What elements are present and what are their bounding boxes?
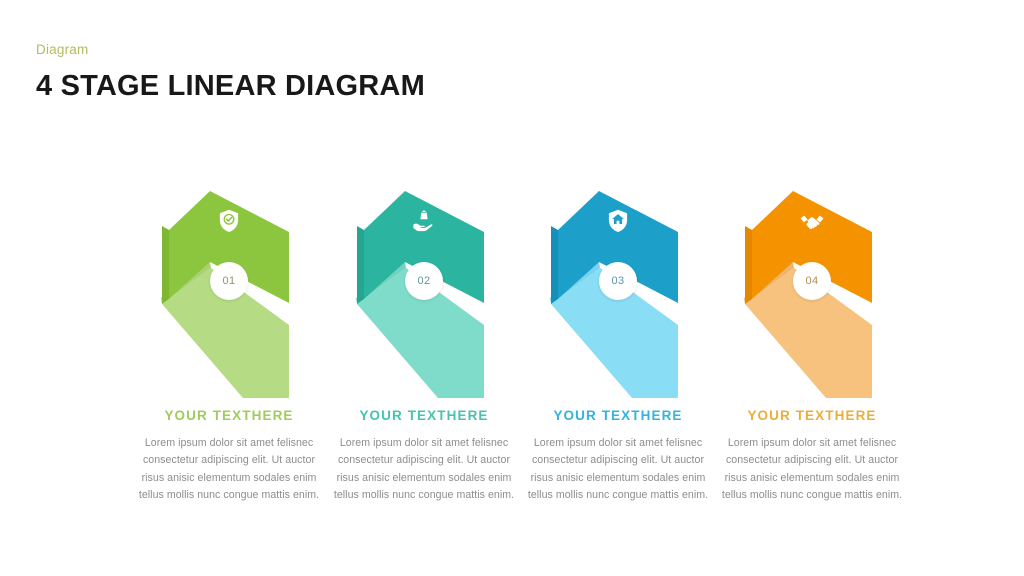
stage-badge-1: 01 [210,262,248,300]
stage-number-1: 01 [222,275,235,287]
stage-item-2[interactable]: 02 YOUR TEXTHERE Lorem ipsum dolor sit a… [326,186,522,546]
stage-heading-4: YOUR TEXTHERE [712,408,912,424]
stage-graphic-3[interactable]: 03 [520,186,716,398]
stage-item-1[interactable]: 01 YOUR TEXTHERE Lorem ipsum dolor sit a… [131,186,327,546]
stage-heading-3: YOUR TEXTHERE [518,408,718,424]
stage-body-4: Lorem ipsum dolor sit amet felisnec cons… [712,435,912,504]
chevron-shade-4 [745,226,752,304]
chevron-shade-1 [162,226,169,304]
slide-canvas: Diagram 4 STAGE LINEAR DIAGRAM [0,0,1024,576]
stage-body-1: Lorem ipsum dolor sit amet felisnec cons… [129,435,329,504]
stage-badge-2: 02 [405,262,443,300]
stage-item-3[interactable]: 03 YOUR TEXTHERE Lorem ipsum dolor sit a… [520,186,716,546]
stage-heading-1: YOUR TEXTHERE [129,408,329,424]
stage-text-3: YOUR TEXTHERE Lorem ipsum dolor sit amet… [518,408,718,504]
stage-graphic-2[interactable]: 02 [326,186,522,398]
stage-badge-3: 03 [599,262,637,300]
stage-number-2: 02 [417,275,430,287]
stage-number-3: 03 [611,275,624,287]
stage-body-3: Lorem ipsum dolor sit amet felisnec cons… [518,435,718,504]
slide-kicker: Diagram [36,42,425,58]
stage-item-4[interactable]: 04 YOUR TEXTHERE Lorem ipsum dolor sit a… [714,186,910,546]
stage-text-1: YOUR TEXTHERE Lorem ipsum dolor sit amet… [129,408,329,504]
page-title: 4 STAGE LINEAR DIAGRAM [36,71,425,103]
stage-text-4: YOUR TEXTHERE Lorem ipsum dolor sit amet… [712,408,912,504]
stage-heading-2: YOUR TEXTHERE [324,408,524,424]
stage-number-4: 04 [805,275,818,287]
slide-header: Diagram 4 STAGE LINEAR DIAGRAM [36,42,425,103]
stage-row: 01 YOUR TEXTHERE Lorem ipsum dolor sit a… [0,186,1024,546]
stage-badge-4: 04 [793,262,831,300]
chevron-shade-2 [357,226,364,304]
chevron-shade-3 [551,226,558,304]
stage-text-2: YOUR TEXTHERE Lorem ipsum dolor sit amet… [324,408,524,504]
stage-graphic-1[interactable]: 01 [131,186,327,398]
stage-graphic-4[interactable]: 04 [714,186,910,398]
stage-body-2: Lorem ipsum dolor sit amet felisnec cons… [324,435,524,504]
